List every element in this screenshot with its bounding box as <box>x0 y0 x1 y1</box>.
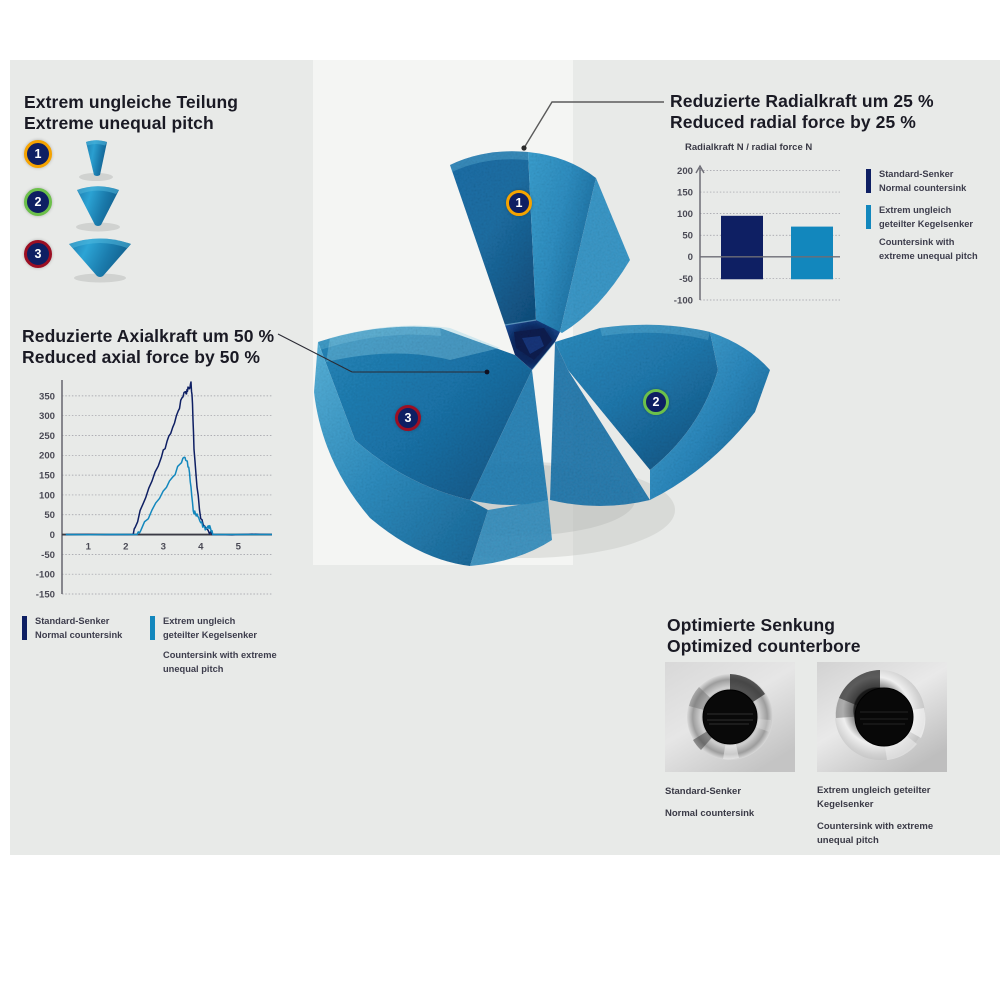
legend-label-de-2: geteilter Kegelsenker <box>163 629 320 643</box>
svg-text:350: 350 <box>39 391 55 402</box>
svg-text:250: 250 <box>39 431 55 442</box>
legend-sublabel-wrap: Countersink with extreme unequal pitch <box>866 236 996 263</box>
svg-text:1: 1 <box>86 542 92 553</box>
legend-swatch-light <box>150 616 155 640</box>
legend-item: Extrem ungleich geteilter Kegelsenker <box>150 615 320 642</box>
drill-badge-1-label: 1 <box>516 196 523 210</box>
svg-text:4: 4 <box>198 542 204 553</box>
svg-text:-50: -50 <box>41 550 55 561</box>
pitch-section-heading: Extrem ungleiche Teilung Extreme unequal… <box>24 92 238 134</box>
pitch-badge-3-label: 3 <box>35 247 42 261</box>
legend-swatch-light <box>866 205 871 229</box>
pitch-title-de: Extrem ungleiche Teilung <box>24 92 238 113</box>
svg-text:200: 200 <box>39 451 55 462</box>
counterbore-photo-unequal-pitch <box>817 662 947 772</box>
svg-text:50: 50 <box>44 510 55 521</box>
counterbore-title-de: Optimierte Senkung <box>667 615 861 636</box>
legend-label-de-2: geteilter Kegelsenker <box>879 218 996 232</box>
radial-chart-legend: Standard-Senker Normal countersink Extre… <box>866 168 996 263</box>
svg-text:-100: -100 <box>36 570 55 581</box>
legend-label-de: Standard-Senker <box>879 168 996 182</box>
counterbore-caption-standard: Standard-Senker Normal countersink <box>665 784 805 822</box>
counterbore-photo-standard <box>665 662 795 772</box>
pitch-badge-1: 1 <box>24 140 52 168</box>
caption-en: Normal countersink <box>665 806 805 822</box>
svg-text:150: 150 <box>39 471 55 482</box>
pitch-badge-3: 3 <box>24 240 52 268</box>
legend-item: Standard-Senker Normal countersink <box>22 615 152 642</box>
caption-en-1: Countersink with extreme <box>817 820 967 834</box>
axial-title-de: Reduzierte Axialkraft um 50 % <box>22 326 274 347</box>
pitch-badge-1-label: 1 <box>35 147 42 161</box>
drill-badge-2: 2 <box>643 389 669 415</box>
caption-de-1: Extrem ungleich geteilter <box>817 784 967 798</box>
legend-label-de-1: Extrem ungleich <box>879 204 996 218</box>
legend-item: Standard-Senker Normal countersink <box>866 168 996 195</box>
legend-item: Extrem ungleich geteilter Kegelsenker <box>866 204 996 231</box>
svg-text:3: 3 <box>161 542 166 553</box>
counterbore-title-en: Optimized counterbore <box>667 636 861 657</box>
svg-text:-150: -150 <box>36 589 55 600</box>
caption-de: Standard-Senker <box>665 784 805 800</box>
counterbore-caption-unequal: Extrem ungleich geteilter Kegelsenker Co… <box>817 784 967 848</box>
pitch-badge-2: 2 <box>24 188 52 216</box>
legend-label-en: Normal countersink <box>35 629 152 643</box>
counterbore-section-heading: Optimierte Senkung Optimized counterbore <box>667 615 861 657</box>
svg-text:5: 5 <box>236 542 242 553</box>
pitch-badge-2-label: 2 <box>35 195 42 209</box>
illustration-page: Extrem ungleiche Teilung Extreme unequal… <box>0 0 1000 1000</box>
legend-swatch-dark <box>866 169 871 193</box>
legend-swatch-dark <box>22 616 27 640</box>
countersink-photo <box>300 70 780 570</box>
pitch-wedge-3 <box>64 232 144 284</box>
drill-badge-1: 1 <box>506 190 532 216</box>
legend-sublabel-wrap: Countersink with extreme unequal pitch <box>150 649 320 676</box>
axial-section-heading: Reduzierte Axialkraft um 50 % Reduced ax… <box>22 326 274 368</box>
caption-en-2: unequal pitch <box>817 834 967 848</box>
svg-text:100: 100 <box>39 490 55 501</box>
axial-force-chart: 350300250200150100500-50-100-15012345 <box>14 372 276 600</box>
drill-badge-3-label: 3 <box>405 411 412 425</box>
legend-label-en: Countersink with extreme unequal pitch <box>163 649 313 676</box>
axial-title-en: Reduced axial force by 50 % <box>22 347 274 368</box>
legend-label-en: Countersink with extreme unequal pitch <box>879 236 987 263</box>
drill-badge-3: 3 <box>395 405 421 431</box>
drill-badge-2-label: 2 <box>653 395 660 409</box>
caption-de-2: Kegelsenker <box>817 798 967 812</box>
legend-label-en: Normal countersink <box>879 182 996 196</box>
svg-text:0: 0 <box>50 530 55 541</box>
pitch-wedge-1 <box>74 136 132 182</box>
svg-text:300: 300 <box>39 411 55 422</box>
svg-text:2: 2 <box>123 542 128 553</box>
pitch-title-en: Extreme unequal pitch <box>24 113 238 134</box>
legend-label-de-1: Extrem ungleich <box>163 615 320 629</box>
legend-label-de: Standard-Senker <box>35 615 152 629</box>
pitch-wedge-2 <box>68 182 138 232</box>
